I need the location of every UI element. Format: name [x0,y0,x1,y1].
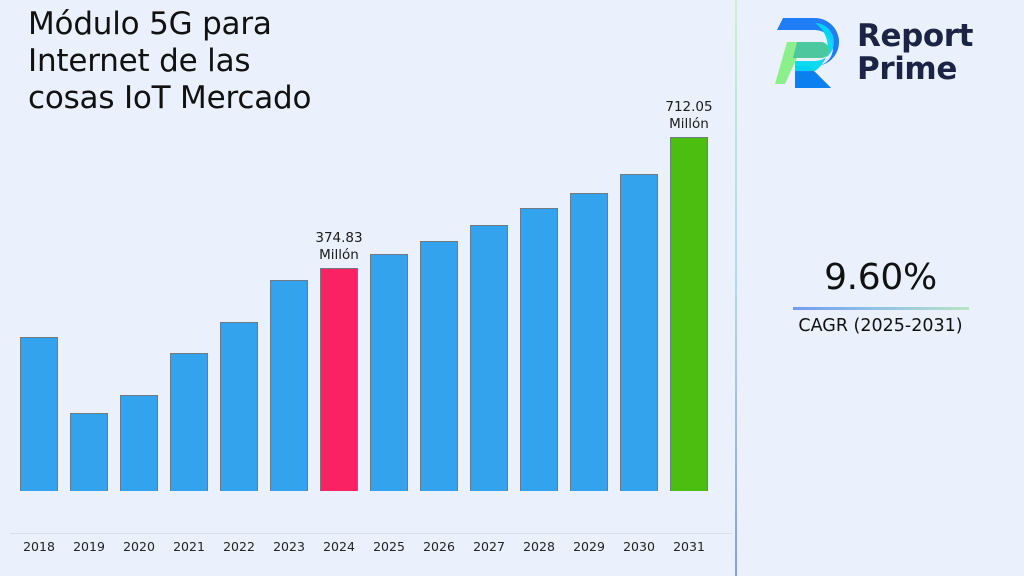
bar-value-label-2024: 374.83 Millón [279,230,399,264]
bar-2022[interactable] [220,322,258,491]
infographic-page: Módulo 5G para Internet de las cosas IoT… [0,0,1024,576]
bar-chart-plot-area: 374.83 Millón712.05 Millón 2018201920202… [0,0,735,534]
cagr-caption: CAGR (2025-2031) [737,315,1024,337]
brand-logo: Report Prime [775,14,973,92]
bar-2018[interactable] [20,337,58,491]
bar-2031[interactable] [670,137,708,491]
bar-2030[interactable] [620,174,658,491]
cagr-block: 9.60% CAGR (2025-2031) [737,255,1024,337]
bar-2024[interactable] [320,268,358,491]
x-axis-line [10,533,732,534]
bar-2027[interactable] [470,225,508,491]
brand-wordmark: Report Prime [857,20,973,86]
bar-2019[interactable] [70,413,108,491]
bar-2028[interactable] [520,208,558,491]
bar-2020[interactable] [120,395,158,491]
report-prime-logo-mark-icon [775,14,843,92]
cagr-value: 9.60% [737,255,1024,301]
cagr-divider-rule [793,307,969,310]
bar-value-label-2031: 712.05 Millón [629,99,749,133]
bar-2029[interactable] [570,193,608,491]
x-tick-2031: 2031 [659,539,719,554]
bar-2023[interactable] [270,280,308,491]
bar-2026[interactable] [420,241,458,491]
bar-2021[interactable] [170,353,208,491]
chart-panel: Módulo 5G para Internet de las cosas IoT… [0,0,735,576]
bar-2025[interactable] [370,254,408,491]
side-panel: Report Prime 9.60% CAGR (2025-2031) [737,0,1024,576]
